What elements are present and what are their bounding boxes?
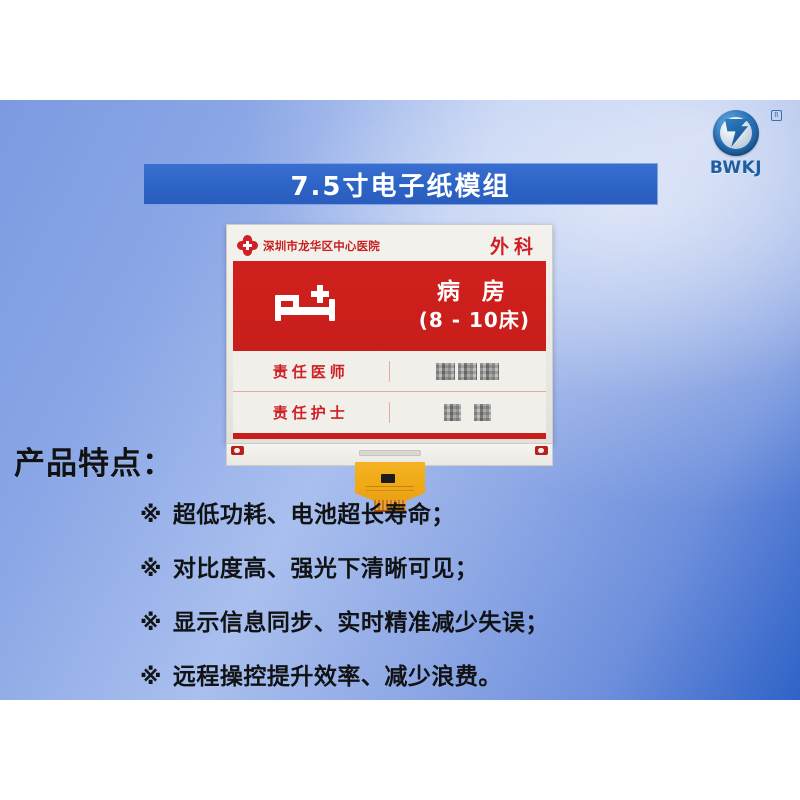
bed-frame-right xyxy=(329,299,335,321)
bwkj-circular-emblem-icon xyxy=(713,110,759,156)
fpc-trace xyxy=(366,486,414,487)
screen-rows: 责任医师 责任护士 xyxy=(233,351,546,432)
mounting-hole xyxy=(234,448,240,453)
list-item: ※ 对比度高、强光下清晰可见； xyxy=(140,549,549,583)
room-bed-range: (8 - 10床) xyxy=(419,308,530,333)
feature-text: 远程操控提升效率、减少浪费。 xyxy=(173,657,502,691)
feature-text: 对比度高、强光下清晰可见； xyxy=(173,549,479,583)
table-row: 责任护士 xyxy=(233,392,546,432)
screen-baseline xyxy=(233,432,546,439)
mosaic-block xyxy=(444,404,461,421)
title-banner-text: 7.5寸电子纸模组 xyxy=(290,166,510,203)
bed-mattress xyxy=(279,307,335,315)
bullet-glyph-icon: ※ xyxy=(140,559,162,581)
list-item: ※ 远程操控提升效率、减少浪费。 xyxy=(140,657,549,691)
room-block: 病 房 (8 - 10床) xyxy=(419,279,530,332)
hospital-bed-icon xyxy=(275,285,345,327)
epaper-bezel: 深圳市龙华区中心医院 外科 xyxy=(226,224,553,444)
hospital-cross-emblem-icon xyxy=(237,235,258,256)
mounting-tab-icon xyxy=(231,446,244,455)
table-row: 责任医师 xyxy=(233,351,546,392)
room-title: 病 房 xyxy=(419,279,530,305)
slide-canvas: R BWKJ 7.5寸电子纸模组 xyxy=(0,100,800,700)
hospital-name: 深圳市龙华区中心医院 xyxy=(263,238,380,254)
department-name: 外科 xyxy=(490,232,540,259)
mosaic-block xyxy=(436,363,455,380)
mounting-tab-icon xyxy=(535,446,548,455)
title-banner: 7.5寸电子纸模组 xyxy=(143,163,658,205)
features-heading: 产品特点： xyxy=(14,438,174,483)
emblem-cross-horizontal xyxy=(243,244,252,247)
row-value-doctor-censored xyxy=(390,363,547,380)
brand-name: BWKJ xyxy=(710,158,762,178)
bed-plus-horizontal xyxy=(311,291,329,297)
mosaic-block xyxy=(480,363,499,380)
bullet-glyph-icon: ※ xyxy=(140,667,162,689)
row-value-nurse-censored xyxy=(390,404,547,421)
bed-head-post xyxy=(293,295,299,307)
mosaic-block xyxy=(458,363,477,380)
list-item: ※ 超低功耗、电池超长寿命； xyxy=(140,495,549,529)
row-label-nurse: 责任护士 xyxy=(233,402,390,423)
bullet-glyph-icon: ※ xyxy=(140,505,162,527)
screen-header: 深圳市龙华区中心医院 外科 xyxy=(233,230,546,261)
mosaic-block xyxy=(474,404,491,421)
bezel-slot-icon xyxy=(359,450,421,456)
list-item: ※ 显示信息同步、实时精准减少失误； xyxy=(140,603,549,637)
registered-trademark-icon: R xyxy=(771,110,782,121)
screen-main-block: 病 房 (8 - 10床) xyxy=(233,261,546,351)
mounting-hole xyxy=(538,448,544,453)
brand-logo: R BWKJ xyxy=(684,108,788,180)
row-label-doctor: 责任医师 xyxy=(233,361,390,382)
fpc-trace xyxy=(366,490,414,491)
bullet-glyph-icon: ※ xyxy=(140,613,162,635)
epaper-screen: 深圳市龙华区中心医院 外科 xyxy=(233,230,546,439)
feature-text: 显示信息同步、实时精准减少失误； xyxy=(173,603,549,637)
slide-root: R BWKJ 7.5寸电子纸模组 xyxy=(0,0,800,800)
driver-ic-chip-icon xyxy=(381,474,395,483)
features-list: ※ 超低功耗、电池超长寿命； ※ 对比度高、强光下清晰可见； ※ 显示信息同步、… xyxy=(140,495,549,691)
feature-text: 超低功耗、电池超长寿命； xyxy=(173,495,455,529)
